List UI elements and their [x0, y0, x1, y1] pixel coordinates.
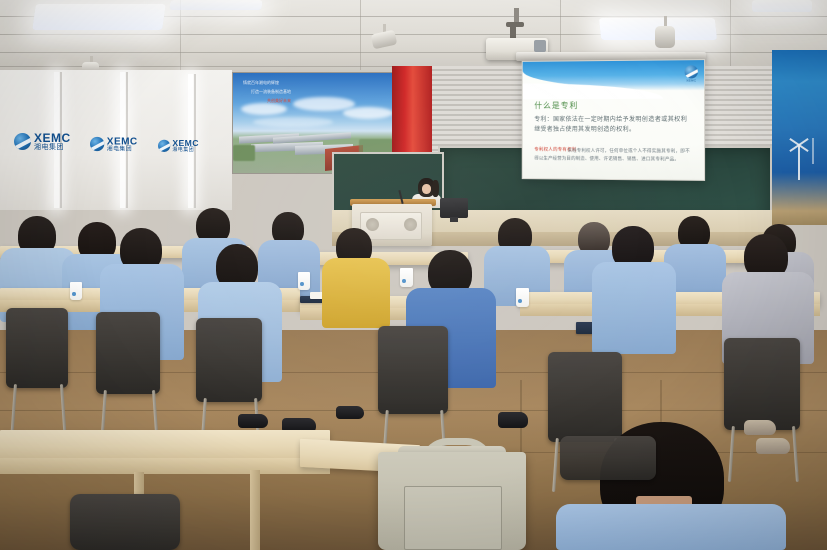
- xemc-logo-en: XEMC: [172, 139, 198, 148]
- chair-foreground-right: [560, 436, 656, 480]
- mural-line-1: 铸就百年湘电的辉煌: [243, 81, 279, 85]
- xemc-mark-icon: [14, 133, 31, 150]
- cloud: [343, 107, 393, 119]
- xemc-logo: XEMC 湘电集团: [90, 136, 138, 152]
- meeting-room-photo: XEMC 湘电集团 XEMC 湘电集团 XEMC 湘电集团 铸就百年湘电的辉煌 …: [0, 0, 827, 550]
- podium-monitor: [440, 198, 468, 218]
- ceiling-panel-light: [752, 0, 812, 12]
- xemc-mark-icon: [90, 137, 104, 151]
- desk-foreground-left-front: [0, 458, 330, 474]
- xemc-mark-icon: [685, 65, 698, 78]
- xemc-logo: XEMC 湘电集团: [158, 139, 199, 153]
- slide-xemc-logo: XEMC: [685, 65, 698, 82]
- handbag-pocket: [404, 486, 502, 550]
- shoe: [238, 414, 268, 428]
- xemc-logo-cn: 湘电集团: [107, 146, 138, 152]
- desk-foreground-left: [0, 430, 330, 460]
- attendee-torso: [556, 504, 786, 550]
- xemc-logo: XEMC 湘电集团: [14, 132, 71, 151]
- projection-screen: XEMC 什么是专利 专利：国家依法在一定时期内给予发明创造者或其权利继受者独占…: [522, 59, 705, 181]
- xemc-logo-en: XEMC: [34, 132, 71, 144]
- paper-cup: [516, 288, 529, 307]
- xemc-logo-cn: 湘电集团: [172, 148, 198, 153]
- presenter-hair: [432, 180, 439, 197]
- shoe: [498, 412, 528, 428]
- speaker-grille: [404, 218, 417, 231]
- slide-title: 什么是专利: [534, 100, 578, 111]
- chair: [196, 318, 262, 402]
- ceiling-panel-light: [169, 0, 262, 10]
- paper-cup: [70, 282, 82, 300]
- presenter-face: [422, 184, 431, 194]
- wind-turbine-tower: [798, 146, 800, 180]
- trees: [233, 145, 255, 161]
- xemc-wordmark: XEMC 湘电集团: [172, 139, 198, 153]
- shoe: [744, 420, 776, 435]
- xemc-wordmark: XEMC 湘电集团: [34, 132, 71, 151]
- track-light: [655, 26, 675, 48]
- ceiling-seam: [360, 0, 361, 78]
- xemc-logo-en: XEMC: [107, 136, 138, 146]
- paper-cup: [298, 272, 310, 290]
- desk-leg: [250, 470, 260, 550]
- cloud: [241, 103, 287, 115]
- chair: [6, 308, 68, 388]
- xemc-wordmark: XEMC 湘电集团: [107, 136, 138, 152]
- ceiling-panel-light: [32, 4, 166, 30]
- slide-body-text: 专利：国家依法在一定时期内给予发明创造者或其权利继受者独占使用其发明创造的权利。: [534, 116, 691, 136]
- chair: [724, 338, 800, 430]
- ocean-wind-banner: [772, 50, 827, 225]
- paper-cup: [400, 268, 413, 287]
- shoe: [336, 406, 364, 419]
- attendee-torso: [322, 258, 390, 328]
- attendee-torso: [592, 262, 676, 354]
- mural-line-3: 共创美好未来: [267, 99, 291, 103]
- wind-turbine-tower: [812, 138, 814, 164]
- monitor-stand: [450, 217, 458, 222]
- chair: [378, 326, 448, 414]
- xemc-mark-icon: [158, 140, 170, 152]
- shoe: [756, 438, 790, 454]
- cloud: [253, 117, 333, 127]
- slide-footnote: 未经专利权人许可，任何单位或个人不得实施其专利，即不得以生产经营为目的制造、使用…: [534, 147, 691, 163]
- chair: [548, 352, 622, 442]
- ceiling-seam: [180, 0, 181, 78]
- chair-foreground: [70, 494, 180, 550]
- xemc-logo-cn: 湘电集团: [34, 144, 71, 151]
- mural-line-2: 打造一流装备制造基地: [251, 90, 291, 94]
- projector-lens: [534, 40, 546, 52]
- slide-logo-label: XEMC: [686, 78, 696, 82]
- chair: [96, 312, 160, 394]
- speaker-grille: [366, 218, 379, 231]
- slide-header-banner: [523, 60, 704, 91]
